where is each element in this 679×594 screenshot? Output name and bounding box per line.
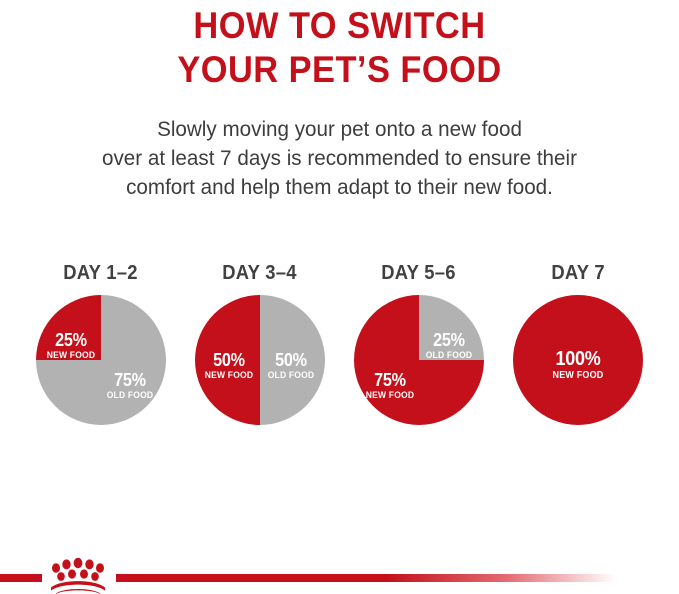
chart-cell-day-1-2: DAY 1–2 25% NEW FOOD 75% OLD FOOD [26, 262, 176, 425]
slice-new-food [195, 295, 260, 425]
pie-chart-day-1-2: 25% NEW FOOD 75% OLD FOOD [36, 295, 166, 425]
slice-old-food [260, 295, 325, 425]
page-subtitle: Slowly moving your pet onto a new food o… [0, 115, 679, 202]
chart-cell-day-3-4: DAY 3–4 50% NEW FOOD 50% OLD FOOD [185, 262, 335, 425]
pie-chart-row: DAY 1–2 25% NEW FOOD 75% OLD FOOD [0, 262, 679, 442]
pie-chart-day-5-6: 25% OLD FOOD 75% NEW FOOD [354, 295, 484, 425]
page-title-line-2: YOUR PET’S FOOD [24, 48, 655, 92]
day-label-5-6: DAY 5–6 [382, 262, 457, 284]
pie-svg-day-3-4 [195, 295, 325, 425]
footer-bar-left [0, 574, 42, 582]
page-subtitle-line-2: over at least 7 days is recommended to e… [14, 144, 666, 173]
pie-chart-day-7: 100% NEW FOOD [513, 295, 643, 425]
page-title-line-1: HOW TO SWITCH [24, 4, 655, 48]
slice-new-food [513, 295, 643, 425]
pie-chart-day-3-4: 50% NEW FOOD 50% OLD FOOD [195, 295, 325, 425]
chart-cell-day-7: DAY 7 100% NEW FOOD [503, 262, 653, 425]
crown-icon-svg [43, 556, 113, 594]
footer [0, 556, 679, 594]
slice-new-food [36, 295, 101, 360]
footer-bar-right [116, 574, 616, 582]
slice-old-food [419, 295, 484, 360]
crown-icon [43, 556, 113, 594]
chart-cell-day-5-6: DAY 5–6 25% OLD FOOD 75% NEW FOOD [344, 262, 494, 425]
page-subtitle-line-3: comfort and help them adapt to their new… [14, 173, 666, 202]
pie-svg-day-7 [513, 295, 643, 425]
day-label-7: DAY 7 [551, 262, 605, 284]
day-label-3-4: DAY 3–4 [223, 262, 298, 284]
pie-svg-day-5-6 [354, 295, 484, 425]
page-subtitle-line-1: Slowly moving your pet onto a new food [14, 115, 666, 144]
infographic-page: HOW TO SWITCH YOUR PET’S FOOD Slowly mov… [0, 0, 679, 594]
page-title: HOW TO SWITCH YOUR PET’S FOOD [0, 4, 679, 92]
day-label-1-2: DAY 1–2 [64, 262, 139, 284]
pie-svg-day-1-2 [36, 295, 166, 425]
